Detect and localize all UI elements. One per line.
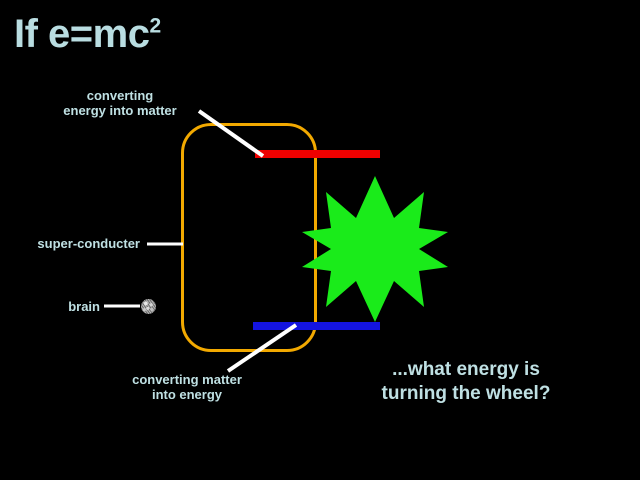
label-converting-matter-into-energy: converting matter into energy [104, 372, 270, 402]
leader-line-energy-to-matter [199, 111, 263, 156]
question-text: ...what energy is turning the wheel? [340, 358, 592, 406]
brain-icon [141, 299, 156, 314]
label-brain: brain [0, 299, 100, 314]
label-converting-energy-into-matter: converting energy into matter [40, 88, 200, 118]
leader-line-matter-to-energy [228, 325, 296, 371]
label-super-conducter: super-conducter [0, 236, 140, 251]
slide-canvas: If e=mc2 converting energy into matter s… [0, 0, 640, 480]
